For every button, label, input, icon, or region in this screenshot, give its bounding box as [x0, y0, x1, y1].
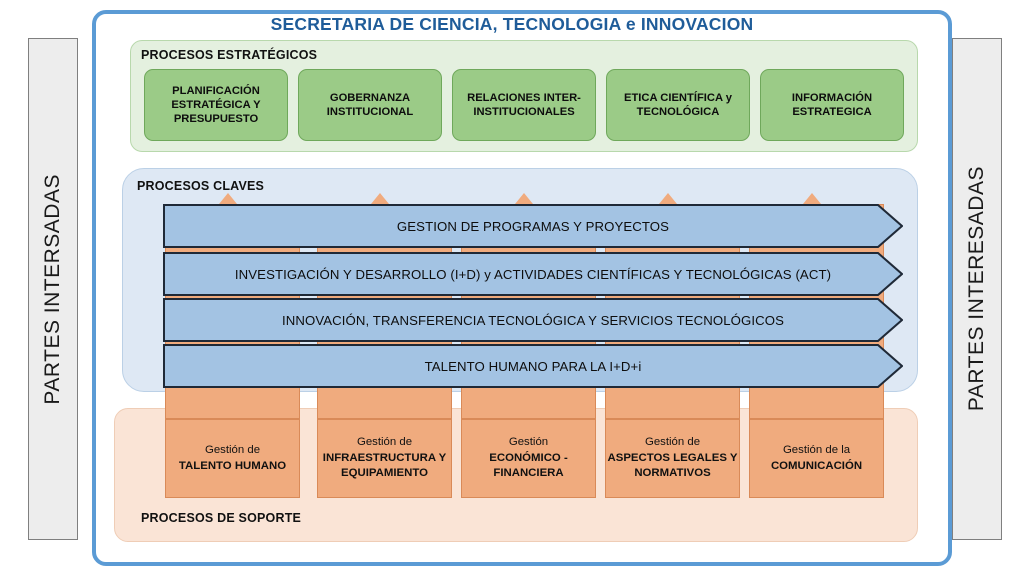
key-process-bar-1[interactable]: GESTION DE PROGRAMAS Y PROYECTOS	[163, 204, 903, 248]
stakeholders-right-label: PARTES INTERESADAS	[965, 166, 989, 411]
support-box-talento-humano[interactable]: Gestión de TALENTO HUMANO	[165, 419, 300, 498]
support-box-3-lead: Gestión	[509, 435, 548, 451]
key-processes-band-label: PROCESOS CLAVES	[137, 179, 264, 193]
key-process-bar-2-label: INVESTIGACIÓN Y DESARROLLO (I+D) y ACTIV…	[235, 267, 831, 282]
support-band-label: PROCESOS DE SOPORTE	[141, 511, 301, 525]
support-box-2-lead: Gestión de	[357, 435, 412, 451]
support-box-1-lead: Gestión de	[205, 443, 260, 459]
support-box-3-strong: ECONÓMICO - FINANCIERA	[462, 451, 595, 482]
stakeholders-left-panel: PARTES INTERSADAS	[28, 38, 78, 540]
strategic-box-informacion[interactable]: INFORMACIÓN ESTRATEGICA	[760, 69, 904, 141]
key-process-bar-3-label: INNOVACIÓN, TRANSFERENCIA TECNOLÓGICA Y …	[282, 313, 784, 328]
support-box-4-strong: ASPECTOS LEGALES Y NORMATIVOS	[606, 451, 739, 482]
stakeholders-left-label: PARTES INTERSADAS	[41, 174, 65, 405]
strategic-box-gobernanza[interactable]: GOBERNANZA INSTITUCIONAL	[298, 69, 442, 141]
support-box-1-strong: TALENTO HUMANO	[179, 459, 286, 475]
strategic-box-planificacion[interactable]: PLANIFICACIÓN ESTRATÉGICA Y PRESUPUESTO	[144, 69, 288, 141]
key-process-bar-4-label: TALENTO HUMANO PARA LA I+D+i	[425, 359, 642, 374]
strategic-band-label: PROCESOS ESTRATÉGICOS	[141, 48, 317, 62]
strategic-box-relaciones[interactable]: RELACIONES INTER-INSTITUCIONALES	[452, 69, 596, 141]
support-box-comunicacion[interactable]: Gestión de la COMUNICACIÓN	[749, 419, 884, 498]
key-process-bar-3[interactable]: INNOVACIÓN, TRANSFERENCIA TECNOLÓGICA Y …	[163, 298, 903, 342]
stakeholders-right-panel: PARTES INTERESADAS	[952, 38, 1002, 540]
key-process-bar-2[interactable]: INVESTIGACIÓN Y DESARROLLO (I+D) y ACTIV…	[163, 252, 903, 296]
support-box-5-strong: COMUNICACIÓN	[771, 459, 862, 475]
strategic-box-row: PLANIFICACIÓN ESTRATÉGICA Y PRESUPUESTO …	[131, 69, 917, 141]
key-process-bar-4[interactable]: TALENTO HUMANO PARA LA I+D+i	[163, 344, 903, 388]
support-box-5-lead: Gestión de la	[783, 443, 850, 459]
strategic-processes-band: PROCESOS ESTRATÉGICOS PLANIFICACIÓN ESTR…	[130, 40, 918, 152]
strategic-box-etica[interactable]: ETICA CIENTÍFICA y TECNOLÓGICA	[606, 69, 750, 141]
support-box-infraestructura[interactable]: Gestión de INFRAESTRUCTURA Y EQUIPAMIENT…	[317, 419, 452, 498]
diagram-canvas: PARTES INTERSADAS PARTES INTERESADAS SEC…	[0, 0, 1024, 576]
page-title: SECRETARIA DE CIENCIA, TECNOLOGIA e INNO…	[0, 14, 1024, 35]
support-box-4-lead: Gestión de	[645, 435, 700, 451]
support-box-2-strong: INFRAESTRUCTURA Y EQUIPAMIENTO	[318, 451, 451, 482]
key-process-bar-1-label: GESTION DE PROGRAMAS Y PROYECTOS	[397, 219, 669, 234]
support-box-economico-financiera[interactable]: Gestión ECONÓMICO - FINANCIERA	[461, 419, 596, 498]
support-box-aspectos-legales[interactable]: Gestión de ASPECTOS LEGALES Y NORMATIVOS	[605, 419, 740, 498]
